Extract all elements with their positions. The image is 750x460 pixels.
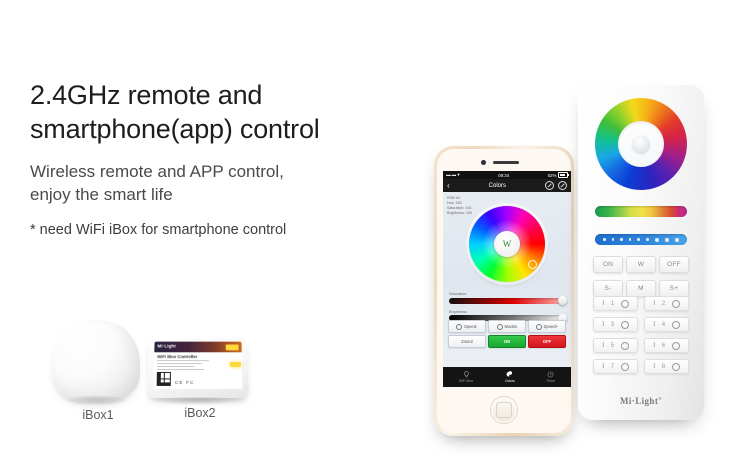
brightness-label: Brightness [449,310,565,314]
zone-on-icon: I [653,321,655,328]
zone-on-icon: I [602,363,604,370]
remote-color-ring[interactable] [595,98,687,190]
tab-timer-label: Timer [547,379,556,383]
phone-bezel: •••• •••• ▾ 09:34 52% ‹ Colors [437,149,571,433]
remote-off-button[interactable]: OFF [659,256,689,273]
zone-key-2[interactable]: I 2 [644,296,689,311]
zone-off-icon [621,321,629,329]
minus-circle-icon [456,324,462,330]
zone-on-icon: I [653,342,655,349]
color-wheel-ring[interactable]: W [469,206,545,282]
edit-icon[interactable] [545,181,554,190]
ibox2-badge [226,344,239,350]
phone-screen: •••• •••• ▾ 09:34 52% ‹ Colors [443,171,571,387]
brightness-slider[interactable] [595,234,687,245]
remote-speed-down-button[interactable]: S- [593,280,623,297]
front-camera-icon [481,160,486,165]
speed-up-label: Speed+ [543,324,558,329]
ibox2-caption: iBox2 [148,406,252,420]
ibox2-led-indicator [230,362,241,367]
zone-number: 4 [662,322,665,328]
ibox1-highlight [68,329,98,351]
zone-key-4[interactable]: I 4 [644,317,689,332]
product-feature-slide: 2.4GHz remote and smartphone(app) contro… [0,0,750,460]
modes-icon [497,324,503,330]
qr-code-icon [157,372,171,386]
remote-brand: Mi·Light® [578,396,704,406]
color-wheel-selector[interactable] [528,260,537,269]
zone-on-icon: I [602,321,604,328]
speed-down-label: Speed- [464,324,478,329]
center-button-icon[interactable] [633,136,650,153]
registered-mark: ® [658,396,662,401]
ibox2-spec-lines [157,360,209,372]
home-button[interactable] [490,396,518,424]
saturation-knob[interactable] [558,296,567,305]
zone-off-icon [672,363,680,371]
zone-key-3[interactable]: I 3 [593,317,638,332]
zone-off-icon [672,300,680,308]
modes-label: Modes [504,324,517,329]
ibox2-certs: CE FC [175,380,195,385]
color-slider[interactable] [595,206,687,217]
product-ibox2: Mi·Light WiFi iBox Controller CE FC iBox… [148,336,252,420]
zone-number: 1 [611,301,614,307]
product-ibox1: iBox1 [48,320,148,420]
power-off-button[interactable]: OFF [528,335,566,348]
zone-on-icon: I [602,300,604,307]
power-button-row: Zone2 ON OFF [448,335,566,348]
status-time: 09:34 [498,173,509,178]
saturation-slider[interactable] [449,298,565,304]
zone-number: 5 [611,343,614,349]
subheadline: Wireless remote and APP control, enjoy t… [30,160,410,206]
zone-key-5[interactable]: I 5 [593,338,638,353]
zone-key-8[interactable]: I 8 [644,359,689,374]
color-wheel[interactable]: W [469,206,545,282]
smartphone-mockup: •••• •••• ▾ 09:34 52% ‹ Colors [434,146,574,436]
tab-colors-label: Colors [505,379,515,383]
ibox2-brand: Mi·Light [157,343,176,348]
zone-number: 6 [662,343,665,349]
zone-on-icon: I [602,342,604,349]
remote-white-button[interactable]: W [626,256,656,273]
zone-number: 3 [611,322,614,328]
battery-percent: 52% [548,173,557,178]
zone-number: 8 [662,364,665,370]
zone-off-icon [621,342,629,350]
remote-key-row-1: ON W OFF [593,256,689,273]
zone-key-7[interactable]: I 7 [593,359,638,374]
speed-up-button[interactable]: Speed+ [528,320,566,333]
bulb-icon [463,371,470,378]
remote-brand-text: Mi·Light [620,396,658,406]
zone-on-icon: I [653,363,655,370]
palette-icon [506,371,513,378]
ibox2-body: Mi·Light WiFi iBox Controller CE FC [147,337,249,398]
tab-wifi-ibox-label: WiFi iBox [459,379,473,383]
colors-screen: RGB #4 Hue: 160 Saturation: 100 Brightne… [443,192,571,387]
zone-row: I 1 I 2 [593,296,689,311]
ibox2-color-band: Mi·Light [154,342,241,353]
signal-icon: •••• •••• [446,173,456,178]
tab-colors[interactable]: Colors [505,371,515,383]
zone-number: 2 [662,301,665,307]
white-mode-button[interactable]: W [494,231,520,257]
zone-label: Zone2 [461,339,473,344]
plus-circle-icon [536,324,542,330]
rf-remote-control: ON W OFF S- M S+ I 1 I 2 [578,84,704,420]
zone-key-1[interactable]: I 1 [593,296,638,311]
ibox2-title: WiFi iBox Controller [157,354,197,359]
modes-button[interactable]: Modes [488,320,526,333]
tab-timer[interactable]: Timer [547,371,556,383]
app-tab-bar: WiFi iBox Colors Timer [443,367,571,387]
zone-row: I 5 I 6 [593,338,689,353]
zone-off-icon [672,321,680,329]
speed-down-button[interactable]: Speed- [448,320,486,333]
zone-button[interactable]: Zone2 [448,335,486,348]
app-nav-bar: ‹ Colors [443,179,571,192]
remote-key-row-2: S- M S+ [593,280,689,297]
zone-row: I 3 I 4 [593,317,689,332]
earpiece-speaker [493,161,519,164]
battery-icon [558,172,568,178]
nav-title: Colors [489,183,506,189]
remote-on-button[interactable]: ON [593,256,623,273]
ibox1-body [52,320,140,402]
zone-off-icon [621,300,629,308]
effect-button-row: Speed- Modes Speed+ [448,320,566,333]
saturation-label: Saturation [449,292,565,296]
remote-mode-button[interactable]: M [626,280,656,297]
zone-off-icon [621,363,629,371]
zone-row: I 7 I 8 [593,359,689,374]
power-on-label: ON [504,339,510,344]
clock-icon [547,371,554,378]
power-on-button[interactable]: ON [488,335,526,348]
zone-on-icon: I [653,300,655,307]
remote-speed-up-button[interactable]: S+ [659,280,689,297]
page-title: 2.4GHz remote and smartphone(app) contro… [30,78,410,146]
power-off-label: OFF [543,339,551,344]
white-mode-label: W [503,239,512,249]
chevron-left-icon[interactable]: ‹ [447,182,450,190]
footnote: * need WiFi iBox for smartphone control [30,222,410,238]
zone-number: 7 [611,364,614,370]
ibox1-caption: iBox1 [48,408,148,422]
copy-block: 2.4GHz remote and smartphone(app) contro… [30,78,410,238]
tab-wifi-ibox[interactable]: WiFi iBox [459,371,473,383]
zone-key-6[interactable]: I 6 [644,338,689,353]
power-icon[interactable] [558,181,567,190]
status-bar: •••• •••• ▾ 09:34 52% [443,171,571,179]
zone-key-grid: I 1 I 2 I 3 I 4 [593,296,689,380]
zone-off-icon [672,342,680,350]
wifi-icon: ▾ [457,172,459,178]
